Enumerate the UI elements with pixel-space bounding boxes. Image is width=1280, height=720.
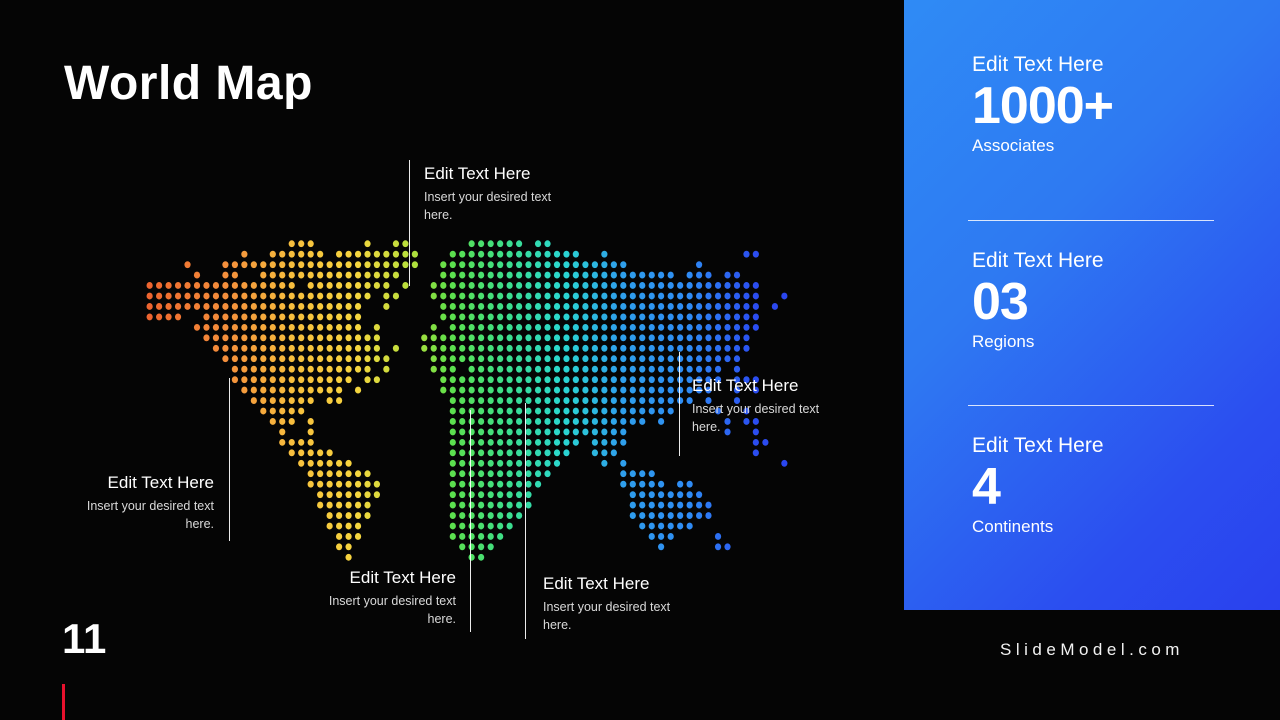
stat-edit-label-1: Edit Text Here	[972, 52, 1262, 77]
callout-east[interactable]: Edit Text Here Insert your desired text …	[692, 375, 847, 437]
callout-south-west-body: Insert your desired text here.	[304, 593, 456, 629]
stat-block-regions[interactable]: Edit Text Here 03 Regions	[972, 248, 1262, 353]
stat-edit-label-3: Edit Text Here	[972, 433, 1262, 458]
stat-value-3: 4	[972, 460, 1262, 515]
stat-caption-3: Continents	[972, 517, 1262, 537]
callout-east-title: Edit Text Here	[692, 375, 847, 396]
stat-edit-label-2: Edit Text Here	[972, 248, 1262, 273]
accent-bar	[62, 684, 65, 720]
callout-east-body: Insert your desired text here.	[692, 401, 847, 437]
callout-south-west[interactable]: Edit Text Here Insert your desired text …	[304, 567, 456, 629]
callout-north-body: Insert your desired text here.	[424, 189, 574, 225]
slide-canvas: World Map Edit Text Here Insert your des…	[0, 0, 1280, 720]
leader-line-north	[409, 160, 410, 286]
callout-south-body: Insert your desired text here.	[543, 599, 695, 635]
stat-value-2: 03	[972, 275, 1262, 330]
callout-west[interactable]: Edit Text Here Insert your desired text …	[62, 472, 214, 534]
stat-caption-1: Associates	[972, 136, 1262, 156]
stat-block-continents[interactable]: Edit Text Here 4 Continents	[972, 433, 1262, 538]
leader-line-west	[229, 378, 230, 541]
stat-block-associates[interactable]: Edit Text Here 1000+ Associates	[972, 52, 1262, 157]
callout-west-title: Edit Text Here	[62, 472, 214, 493]
callout-north[interactable]: Edit Text Here Insert your desired text …	[424, 163, 574, 225]
stat-divider-2	[968, 405, 1214, 406]
stat-divider-1	[968, 220, 1214, 221]
leader-line-south-west	[470, 410, 471, 632]
page-number: 11	[62, 618, 106, 660]
leader-line-east	[679, 352, 680, 456]
callout-south-title: Edit Text Here	[543, 573, 695, 594]
callout-west-body: Insert your desired text here.	[62, 498, 214, 534]
callout-south[interactable]: Edit Text Here Insert your desired text …	[543, 573, 695, 635]
stats-panel: Edit Text Here 1000+ Associates Edit Tex…	[904, 0, 1280, 610]
leader-line-south	[525, 403, 526, 639]
callout-north-title: Edit Text Here	[424, 163, 574, 184]
callout-south-west-title: Edit Text Here	[304, 567, 456, 588]
brand-watermark: SlideModel.com	[904, 640, 1280, 660]
world-map-region: Edit Text Here Insert your desired text …	[0, 0, 904, 720]
stat-value-1: 1000+	[972, 79, 1262, 134]
stat-caption-2: Regions	[972, 332, 1262, 352]
